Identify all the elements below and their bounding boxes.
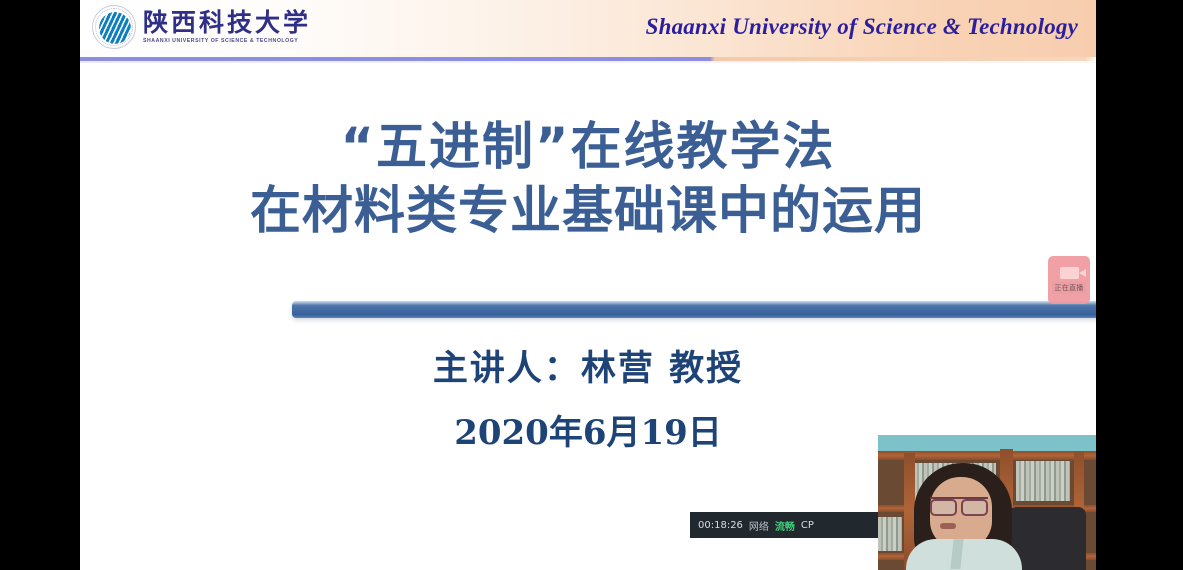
logo-english-name: SHAANXI UNIVERSITY OF SCIENCE & TECHNOLO… [143,39,311,44]
elapsed-time: 00:18:26 [698,520,743,531]
speaker-name: 主讲人：林营 教授 [80,340,1096,391]
logo-text-group: 陕西科技大学 SHAANXI UNIVERSITY OF SCIENCE & T… [143,10,311,44]
presenter-torso [906,539,1022,570]
presenter-webcam[interactable] [878,435,1096,570]
presenter-glasses [930,497,988,510]
video-camera-icon [1060,267,1079,279]
slide-title-block: “五进制”在线教学法 在材料类专业基础课中的运用 [80,118,1096,242]
bookshelf-books [1016,461,1070,501]
presenter-mouth [940,523,956,529]
header-english-title: Shaanxi University of Science & Technolo… [646,14,1078,40]
network-label: 网络 [749,518,769,533]
cpu-label: CP [801,520,814,531]
bookshelf-books [878,517,902,551]
logo-chinese-name: 陕西科技大学 [143,10,311,35]
stream-status-bar: 00:18:26 网络 流畅 CP [690,512,910,538]
university-emblem-icon [92,5,136,49]
slide-header: 陕西科技大学 SHAANXI UNIVERSITY OF SCIENCE & T… [80,0,1096,57]
header-divider-rule [80,57,1096,61]
network-quality-value: 流畅 [775,518,795,533]
university-logo: 陕西科技大学 SHAANXI UNIVERSITY OF SCIENCE & T… [92,5,311,49]
letterbox-left [0,0,80,570]
live-streaming-label: 正在直播 [1052,282,1085,294]
slide-title-line-1: “五进制”在线教学法 [80,118,1096,178]
slide-title-line-2: 在材料类专业基础课中的运用 [80,182,1096,242]
live-streaming-badge[interactable]: 正在直播 [1048,256,1090,304]
title-divider-bar [292,301,1096,318]
video-player-screen: 陕西科技大学 SHAANXI UNIVERSITY OF SCIENCE & T… [0,0,1183,570]
letterbox-right [1096,0,1183,570]
